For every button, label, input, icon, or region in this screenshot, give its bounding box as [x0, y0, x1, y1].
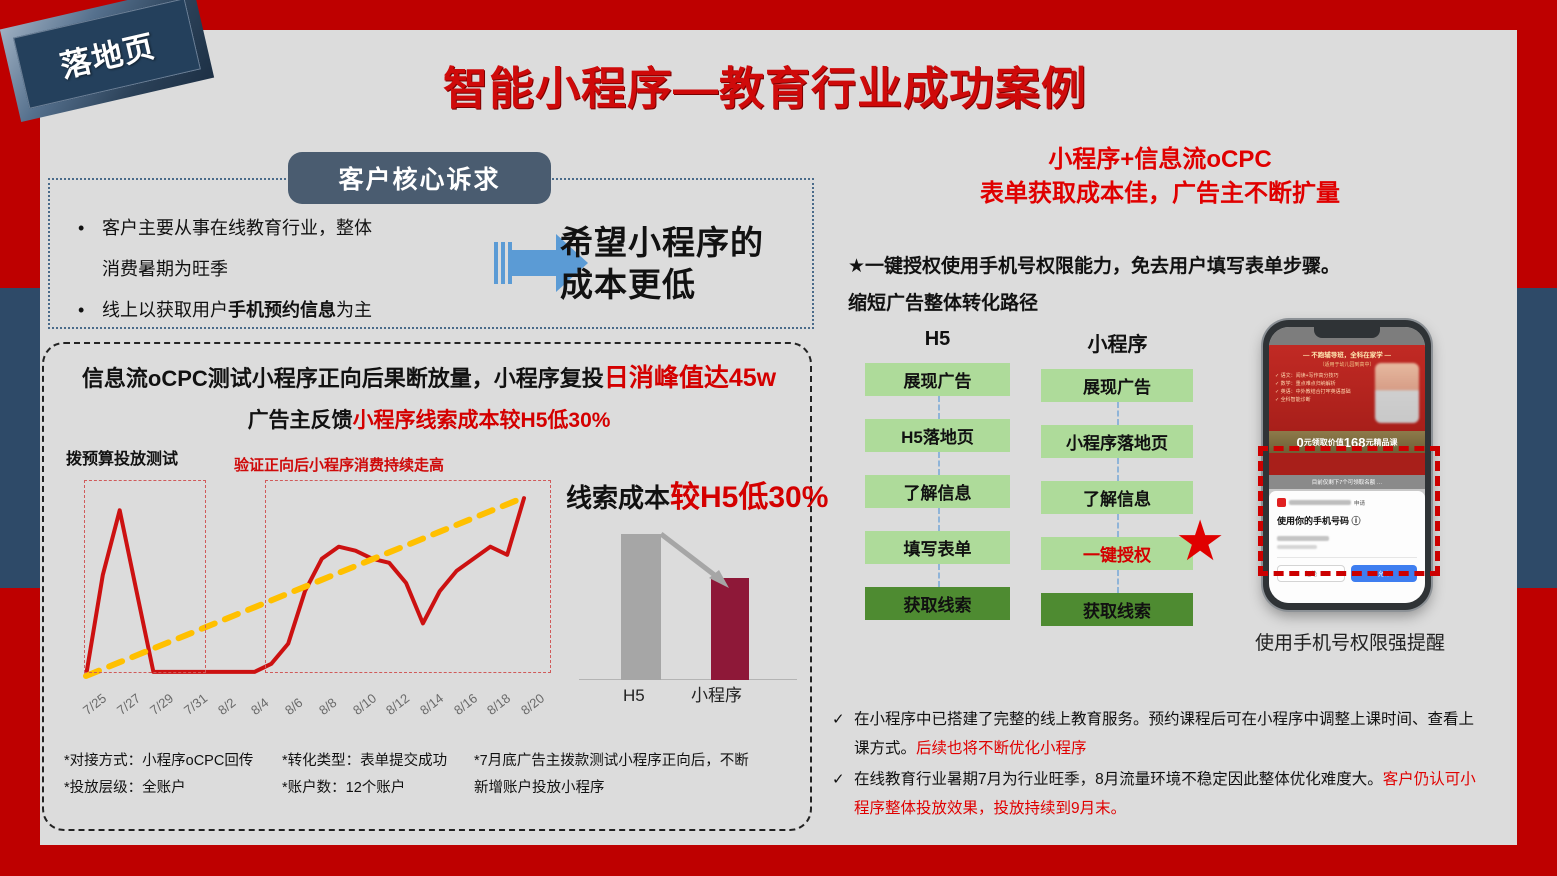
- phone-caption: 使用手机号权限强提醒: [1205, 628, 1495, 655]
- phone-mockup: — 不跑辅导班，全科在家学 — （适用于幼儿园到高中） ✓ 语文：阅读+写作高分…: [1263, 320, 1431, 610]
- page-title: 智能小程序—教育行业成功案例: [400, 52, 1130, 117]
- right-subtext-line2: 缩短广告整体转化路径: [848, 285, 1488, 322]
- arrow-body: [512, 250, 557, 276]
- list-item: ✓ 在线教育行业暑期7月为行业旺季，8月流量环境不稳定因此整体优化难度大。客户仍…: [832, 765, 1482, 823]
- bar-h5: [621, 534, 661, 680]
- needs-item-1-line2: 消费暑期为旺季: [102, 249, 228, 290]
- dialog-actions: 拒绝 允许: [1277, 565, 1417, 582]
- spend-line-chart: [62, 472, 532, 702]
- footnote-2b: *账户数：12个账户: [282, 775, 447, 802]
- line-chart-x-axis: 7/257/277/297/318/28/48/68/88/108/128/14…: [62, 702, 542, 748]
- ad-model-photo: [1375, 363, 1419, 423]
- bar-chart-headline: 线索成本较H5低30%: [566, 472, 828, 516]
- dialog-question: 使用你的手机号码 ⓘ: [1277, 514, 1417, 527]
- needs-item-2-bold: 手机预约信息: [228, 300, 336, 320]
- footnote-col-3: *7月底广告主拨款测试小程序正向后，不断 新增账户投放小程序: [474, 748, 784, 802]
- right-headline-line2: 表单获取成本佳，广告主不断扩量: [860, 177, 1460, 211]
- ad-offer-value: 168: [1344, 435, 1366, 450]
- list-item: • 客户主要从事在线教育行业，整体: [78, 208, 478, 249]
- footnote-1a: *对接方式：小程序oCPC回传: [64, 748, 253, 775]
- annotation-budget-test: 拨预算投放测试: [66, 445, 178, 469]
- customer-needs-list: • 客户主要从事在线教育行业，整体 消费暑期为旺季 • 线上以获取用户手机预约信…: [78, 208, 478, 331]
- list-item: • 线上以获取用户手机预约信息为主: [78, 290, 478, 331]
- phone-notch: [1314, 327, 1380, 338]
- left-navy-band: [0, 288, 40, 588]
- check-icon: ✓: [832, 705, 854, 763]
- checklist-1-highlight: 后续也将不断优化小程序: [916, 740, 1087, 757]
- star-icon: ★: [1175, 513, 1225, 569]
- flow-step-mp-2[interactable]: 小程序落地页: [1041, 425, 1193, 458]
- right-navy-band: [1517, 288, 1557, 588]
- performance-panel: 信息流oCPC测试小程序正向后果断放量，小程序复投日消峰值达45w 广告主反馈小…: [42, 342, 812, 831]
- dialog-phone-hint-blurred: [1277, 545, 1317, 549]
- allow-button[interactable]: 允许: [1351, 565, 1417, 582]
- bar-label-h5: H5: [623, 686, 645, 706]
- check-icon: ✓: [832, 765, 854, 823]
- flow-step-mp-4[interactable]: 一键授权: [1041, 537, 1193, 570]
- needs-conclusion-line2: 成本更低: [560, 264, 764, 306]
- phone-screen: — 不跑辅导班，全科在家学 — （适用于幼儿园到高中） ✓ 语文：阅读+写作高分…: [1269, 327, 1425, 603]
- bar-label-miniprogram: 小程序: [691, 681, 742, 706]
- bar-head-plain: 线索成本: [566, 483, 670, 513]
- flow-title-miniprogram: 小程序: [1045, 328, 1190, 357]
- flow-step-mp-3[interactable]: 了解信息: [1041, 481, 1193, 514]
- dialog-header: 申请: [1277, 498, 1417, 507]
- needs-item-2-a: 线上以获取用户: [102, 300, 228, 320]
- right-headline-line1: 小程序+信息流oCPC: [860, 143, 1460, 177]
- ad-offer-banner: 0元领取价值168元精品课: [1269, 431, 1425, 453]
- highlight-box-test-phase: [84, 480, 206, 673]
- bar-head-highlight: 较H5低30%: [670, 481, 828, 514]
- right-subtext: ★一键授权使用手机号权限能力，免去用户填写表单步骤。 缩短广告整体转化路径: [848, 248, 1488, 322]
- flow-column-h5: H5 展现广告 H5落地页 了解信息 填写表单 获取线索: [865, 328, 1010, 643]
- needs-conclusion: 希望小程序的 成本更低: [560, 222, 764, 306]
- flow-title-h5: H5: [865, 328, 1010, 351]
- ad-offer-price: 0: [1297, 435, 1304, 450]
- panel-headline: 信息流oCPC测试小程序正向后果断放量，小程序复投日消峰值达45w: [58, 358, 800, 394]
- ad-stock-note: 目前仅剩下7个可领取名额 …: [1269, 475, 1425, 489]
- panel-headline-highlight: 日消峰值达45w: [604, 364, 776, 392]
- ad-red-strip: [1269, 453, 1425, 475]
- ad-hero-line1: — 不跑辅导班，全科在家学 —: [1275, 349, 1419, 359]
- footnote-col-2: *转化类型：表单提交成功 *账户数：12个账户: [282, 748, 447, 802]
- panel-subline: 广告主反馈小程序线索成本较H5低30%: [58, 404, 800, 434]
- permission-dialog: 申请 使用你的手机号码 ⓘ 拒绝 允许: [1269, 491, 1425, 603]
- arrow-tail-bars: [494, 242, 512, 284]
- ad-offer-post: 元精品课: [1365, 437, 1397, 448]
- panel-subline-highlight: 小程序线索成本较H5低30%: [353, 409, 611, 432]
- flow-step-h5-2[interactable]: H5落地页: [865, 419, 1010, 452]
- ad-hero-banner: — 不跑辅导班，全科在家学 — （适用于幼儿园到高中） ✓ 语文：阅读+写作高分…: [1269, 345, 1425, 431]
- needs-item-1-line1: 客户主要从事在线教育行业，整体: [102, 208, 372, 249]
- flow-step-h5-3[interactable]: 了解信息: [865, 475, 1010, 508]
- conclusion-checklist: ✓ 在小程序中已搭建了完整的线上教育服务。预约课程后可在小程序中调整上课时间、查…: [832, 705, 1482, 825]
- checklist-2-plain: 在线教育行业暑期7月为行业旺季，8月流量环境不稳定因此整体优化难度大。: [854, 771, 1383, 788]
- dialog-phone-value-blurred: [1277, 536, 1329, 541]
- dialog-divider: [1277, 557, 1417, 558]
- customer-needs-pill: 客户核心诉求: [288, 152, 551, 204]
- footnote-1b: *投放层级：全账户: [64, 775, 253, 802]
- list-item: 消费暑期为旺季: [78, 249, 478, 290]
- flow-step-h5-4[interactable]: 填写表单: [865, 531, 1010, 564]
- footnote-2a: *转化类型：表单提交成功: [282, 748, 447, 775]
- footnote-col-1: *对接方式：小程序oCPC回传 *投放层级：全账户: [64, 748, 253, 802]
- flow-step-h5-5[interactable]: 获取线索: [865, 587, 1010, 620]
- bar-baseline: [579, 679, 797, 680]
- slide-root: 落地页 智能小程序—教育行业成功案例 客户核心诉求 • 客户主要从事在线教育行业…: [0, 0, 1557, 876]
- cost-bar-chart: H5 小程序: [579, 522, 804, 702]
- ad-offer-mid: 元领取价值: [1304, 437, 1344, 448]
- flow-step-mp-5[interactable]: 获取线索: [1041, 593, 1193, 626]
- deny-button[interactable]: 拒绝: [1277, 565, 1345, 582]
- flow-step-mp-1[interactable]: 展现广告: [1041, 369, 1193, 402]
- dialog-apply-label: 申请: [1354, 499, 1365, 507]
- down-arrow-icon: [657, 528, 747, 598]
- footnote-3b: 新增账户投放小程序: [474, 775, 784, 802]
- dialog-app-name-blurred: [1289, 500, 1351, 505]
- flow-column-miniprogram: 小程序 展现广告 小程序落地页 了解信息 一键授权 获取线索: [1045, 328, 1190, 649]
- highlight-box-growth-phase: [265, 480, 551, 673]
- needs-conclusion-line1: 希望小程序的: [560, 222, 764, 264]
- panel-subline-plain: 广告主反馈: [248, 409, 353, 432]
- flow-step-h5-1[interactable]: 展现广告: [865, 363, 1010, 396]
- footnote-3a: *7月底广告主拨款测试小程序正向后，不断: [474, 748, 784, 775]
- bullet-icon: •: [78, 290, 102, 331]
- right-headline: 小程序+信息流oCPC 表单获取成本佳，广告主不断扩量: [860, 143, 1460, 211]
- panel-headline-plain: 信息流oCPC测试小程序正向后果断放量，小程序复投: [82, 366, 604, 391]
- bullet-icon: •: [78, 208, 102, 249]
- list-item: ✓ 在小程序中已搭建了完整的线上教育服务。预约课程后可在小程序中调整上课时间、查…: [832, 705, 1482, 763]
- right-subtext-line1: ★一键授权使用手机号权限能力，免去用户填写表单步骤。: [848, 248, 1488, 285]
- needs-item-2-c: 为主: [336, 300, 372, 320]
- app-logo-icon: [1277, 498, 1286, 507]
